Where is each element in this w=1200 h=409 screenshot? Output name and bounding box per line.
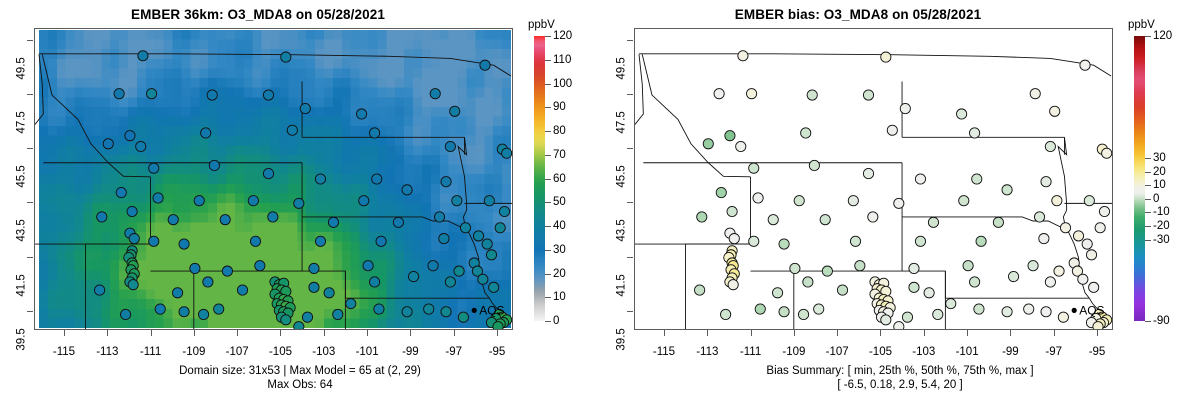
station-marker — [478, 274, 488, 284]
station-marker — [976, 236, 986, 246]
station-marker — [1045, 141, 1055, 151]
station-marker — [502, 148, 512, 158]
colorbar-tick-mark — [1145, 185, 1151, 186]
x-tick-label: -111 — [140, 346, 161, 358]
station-marker — [309, 263, 319, 273]
x-tick-mark — [497, 330, 498, 336]
station-marker — [855, 261, 865, 271]
station-marker — [881, 52, 891, 62]
station-marker — [798, 309, 808, 319]
colorbar-tick-label: -10 — [1153, 206, 1170, 218]
station-marker — [441, 307, 451, 317]
colorbar-tick-label: 0 — [553, 315, 559, 327]
station-marker — [127, 206, 137, 216]
station-marker — [136, 141, 146, 151]
station-marker — [1034, 212, 1044, 222]
station-marker — [779, 307, 789, 317]
station-marker — [146, 89, 156, 99]
station-marker — [428, 261, 438, 271]
station-marker — [736, 141, 746, 151]
x-tick-label: -95 — [1089, 346, 1106, 358]
x-tick-mark — [410, 330, 411, 336]
station-marker — [993, 217, 1003, 227]
station-marker — [190, 263, 200, 273]
right-caption-line2: [ -6.5, 0.18, 2.9, 5.4, 20 ] — [600, 378, 1200, 392]
station-marker — [959, 196, 969, 206]
aqs-legend-dot — [1072, 308, 1077, 313]
station-marker — [445, 141, 455, 151]
x-tick-mark — [237, 330, 238, 336]
station-marker — [772, 288, 782, 298]
colorbar-tick-label: -90 — [1153, 315, 1170, 327]
station-marker — [155, 304, 165, 314]
x-tick-mark — [794, 330, 795, 336]
station-marker — [1002, 307, 1012, 317]
station-marker — [493, 322, 503, 329]
colorbar-tick-label: 0 — [1153, 193, 1159, 205]
x-tick-label: -107 — [226, 346, 249, 358]
colorbar-tick-label: -20 — [1153, 220, 1170, 232]
station-marker — [1002, 185, 1012, 195]
station-marker — [863, 168, 873, 178]
state-boundary — [642, 54, 750, 176]
station-marker — [1058, 312, 1068, 322]
station-marker — [128, 280, 138, 290]
left-map-clip: AQS — [35, 29, 512, 329]
left-x-axis: -115-113-111-109-107-105-103-101-99-97-9… — [0, 336, 600, 356]
colorbar-tick-label: 100 — [553, 78, 572, 90]
station-marker — [714, 89, 724, 99]
station-marker — [328, 217, 338, 227]
colorbar-tick-label: 20 — [1153, 166, 1166, 178]
station-marker — [168, 215, 178, 225]
colorbar-tick-label: 120 — [553, 30, 572, 42]
station-marker — [408, 271, 418, 281]
station-marker — [450, 106, 460, 116]
colorbar-tick-mark — [545, 131, 551, 132]
station-marker — [725, 131, 735, 141]
station-marker — [946, 299, 956, 309]
station-marker — [376, 236, 386, 246]
station-marker — [370, 128, 380, 138]
station-marker — [333, 309, 343, 319]
y-tick-mark — [627, 94, 633, 95]
colorbar-tick-label: 70 — [553, 149, 566, 161]
left-caption-line1: Domain size: 31x53 | Max Model = 65 at (… — [0, 364, 600, 378]
station-marker — [807, 90, 817, 100]
station-marker — [149, 163, 159, 173]
y-tick-label: 49.5 — [615, 57, 627, 79]
station-marker — [801, 128, 811, 138]
station-marker — [1041, 307, 1051, 317]
colorbar-tick-label: 60 — [553, 173, 566, 185]
colorbar-tick-mark — [1145, 321, 1151, 322]
station-marker — [473, 231, 483, 241]
station-marker — [495, 223, 505, 233]
station-marker — [149, 236, 159, 246]
station-marker — [153, 193, 163, 203]
colorbar-tick-mark — [1145, 226, 1151, 227]
station-marker — [850, 236, 860, 246]
colorbar-tick-mark — [545, 274, 551, 275]
x-tick-mark — [707, 330, 708, 336]
colorbar-tick-label: 50 — [553, 196, 566, 208]
x-tick-mark — [924, 330, 925, 336]
right-x-axis: -115-113-111-109-107-105-103-101-99-97-9… — [600, 336, 1200, 356]
colorbar-tick-mark — [545, 155, 551, 156]
station-marker — [324, 288, 334, 298]
station-marker — [1041, 177, 1051, 187]
station-marker — [909, 282, 919, 292]
station-marker — [237, 285, 247, 295]
station-marker — [1060, 223, 1070, 233]
colorbar-tick-label: 90 — [553, 101, 566, 113]
station-marker — [727, 206, 737, 216]
x-tick-label: -109 — [182, 346, 205, 358]
x-tick-label: -103 — [912, 346, 935, 358]
station-marker — [755, 304, 765, 314]
x-tick-mark — [64, 330, 65, 336]
station-marker — [729, 234, 739, 244]
station-marker — [848, 196, 858, 206]
colorbar-tick-label: 40 — [553, 220, 566, 232]
colorbar-tick-label: -30 — [1153, 234, 1170, 246]
station-marker — [203, 277, 213, 287]
station-marker — [287, 125, 297, 135]
station-marker — [749, 163, 759, 173]
colorbar-tick-mark — [545, 60, 551, 61]
right-colorbar-title: ppbV — [1128, 19, 1155, 31]
state-boundary — [1058, 137, 1066, 203]
x-tick-mark — [324, 330, 325, 336]
station-marker — [1024, 304, 1034, 314]
station-marker — [924, 288, 934, 298]
x-tick-label: -105 — [869, 346, 892, 358]
station-marker — [1084, 196, 1094, 206]
station-marker — [294, 322, 304, 329]
aqs-legend-label: AQS — [479, 303, 504, 317]
colorbar-tick-label: 120 — [1153, 30, 1172, 42]
y-tick-mark — [627, 202, 633, 203]
colorbar-tick-mark — [1145, 240, 1151, 241]
station-marker — [957, 109, 967, 119]
station-marker — [402, 185, 412, 195]
station-marker — [972, 174, 982, 184]
y-tick-label: 41.5 — [615, 274, 627, 296]
x-tick-label: -113 — [96, 346, 118, 358]
station-marker — [1078, 274, 1088, 284]
colorbar-tick-mark — [1145, 212, 1151, 213]
station-marker — [179, 239, 189, 249]
station-marker — [194, 196, 204, 206]
station-marker — [482, 239, 492, 249]
colorbar-tick-label: 110 — [553, 54, 571, 66]
station-marker — [909, 263, 919, 273]
y-tick-label: 43.5 — [15, 220, 27, 242]
station-marker — [114, 89, 124, 99]
station-marker — [738, 51, 748, 61]
station-marker — [300, 103, 310, 113]
station-marker — [374, 304, 384, 314]
station-marker — [790, 263, 800, 273]
y-tick-label: 45.5 — [15, 165, 27, 187]
station-marker — [779, 239, 789, 249]
x-tick-label: -97 — [1045, 346, 1062, 358]
station-marker — [900, 103, 910, 113]
y-tick-mark — [27, 94, 33, 95]
state-boundary — [42, 54, 150, 176]
figure-root: EMBER 36km: O3_MDA8 on 05/28/2021 AQS 49… — [0, 0, 1200, 409]
x-tick-label: -97 — [445, 346, 462, 358]
station-marker — [268, 212, 278, 222]
right-map-overlay: AQS — [635, 29, 1112, 329]
station-marker — [1095, 223, 1105, 233]
station-marker — [255, 261, 265, 271]
station-marker — [138, 51, 148, 61]
station-marker — [1045, 277, 1055, 287]
station-marker — [125, 131, 135, 141]
station-marker — [281, 315, 291, 325]
station-marker — [721, 309, 731, 319]
station-marker — [915, 174, 925, 184]
station-marker — [1039, 234, 1049, 244]
station-marker — [357, 109, 367, 119]
station-marker — [894, 198, 904, 208]
colorbar-tick-label: 80 — [553, 125, 566, 137]
x-tick-label: -103 — [312, 346, 335, 358]
left-caption-line2: Max Obs: 64 — [0, 378, 600, 392]
y-tick-mark — [27, 257, 33, 258]
x-tick-mark — [194, 330, 195, 336]
x-tick-mark — [880, 330, 881, 336]
station-marker — [837, 285, 847, 295]
aqs-legend-label: AQS — [1079, 303, 1104, 317]
colorbar-tick-mark — [545, 202, 551, 203]
y-tick-label: 43.5 — [615, 220, 627, 242]
colorbar-tick-mark — [545, 250, 551, 251]
station-marker — [974, 304, 984, 314]
right-panel: EMBER bias: O3_MDA8 on 05/28/2021 AQS 49… — [600, 0, 1200, 409]
colorbar-tick-mark — [1145, 158, 1151, 159]
station-marker — [402, 307, 412, 317]
left-map-overlay: AQS — [35, 29, 512, 329]
x-tick-mark — [1097, 330, 1098, 336]
x-tick-mark — [454, 330, 455, 336]
state-boundary — [635, 54, 643, 138]
right-caption-line1: Bias Summary: [ min, 25th %, 50th %, 75t… — [600, 364, 1200, 378]
x-tick-mark — [107, 330, 108, 336]
station-marker — [370, 277, 380, 287]
x-tick-label: -113 — [696, 346, 718, 358]
y-tick-mark — [27, 148, 33, 149]
station-marker — [768, 215, 778, 225]
right-colorbar-gradient — [1134, 36, 1145, 321]
station-marker — [315, 174, 325, 184]
station-marker — [1086, 250, 1096, 260]
station-marker — [439, 234, 449, 244]
y-tick-label: 45.5 — [615, 165, 627, 187]
colorbar-tick-mark — [545, 107, 551, 108]
station-marker — [803, 277, 813, 287]
station-marker — [814, 304, 824, 314]
x-tick-mark — [1054, 330, 1055, 336]
y-tick-label: 41.5 — [15, 274, 27, 296]
colorbar-tick-mark — [1145, 172, 1151, 173]
y-tick-mark — [627, 311, 633, 312]
colorbar-tick-label: 10 — [553, 291, 566, 303]
x-tick-label: -107 — [826, 346, 849, 358]
station-marker — [863, 90, 873, 100]
station-marker — [363, 261, 373, 271]
station-marker — [1030, 89, 1040, 99]
x-tick-label: -101 — [956, 346, 979, 358]
colorbar-tick-mark — [545, 297, 551, 298]
station-marker — [749, 236, 759, 246]
station-marker — [1054, 266, 1064, 276]
state-boundary — [39, 54, 511, 76]
station-marker — [489, 282, 499, 292]
station-marker — [263, 90, 273, 100]
station-marker — [263, 168, 273, 178]
station-marker — [97, 212, 107, 222]
station-marker — [172, 288, 182, 298]
x-tick-label: -105 — [269, 346, 292, 358]
station-marker — [484, 196, 494, 206]
colorbar-tick-label: 30 — [1153, 152, 1166, 164]
station-marker — [746, 89, 756, 99]
right-map-plot: AQS — [634, 28, 1113, 330]
station-marker — [1102, 148, 1112, 158]
y-tick-mark — [27, 40, 33, 41]
station-marker — [1080, 60, 1090, 70]
aqs-legend-dot — [472, 308, 477, 313]
station-marker — [121, 309, 131, 319]
y-tick-mark — [627, 148, 633, 149]
station-marker — [359, 196, 369, 206]
station-marker — [441, 177, 451, 187]
station-marker — [281, 52, 291, 62]
station-marker — [933, 309, 943, 319]
x-tick-mark — [837, 330, 838, 336]
state-boundary — [458, 137, 466, 203]
y-tick-label: 47.5 — [15, 111, 27, 133]
colorbar-tick-mark — [545, 321, 551, 322]
station-marker — [95, 285, 105, 295]
station-marker — [430, 89, 440, 99]
left-panel: EMBER 36km: O3_MDA8 on 05/28/2021 AQS 49… — [0, 0, 600, 409]
colorbar-tick-mark — [545, 36, 551, 37]
right-panel-title: EMBER bias: O3_MDA8 on 05/28/2021 — [600, 7, 1116, 22]
station-marker — [302, 312, 312, 322]
station-marker — [1052, 196, 1062, 206]
y-tick-mark — [27, 311, 33, 312]
station-marker — [116, 187, 126, 197]
station-marker — [928, 217, 938, 227]
station-marker — [1089, 282, 1099, 292]
station-marker — [486, 250, 496, 260]
y-tick-mark — [627, 257, 633, 258]
station-marker — [179, 307, 189, 317]
station-marker — [434, 212, 444, 222]
station-marker — [695, 285, 705, 295]
colorbar-tick-mark — [1145, 36, 1151, 37]
station-marker — [703, 139, 713, 149]
left-colorbar-title: ppbV — [528, 19, 555, 31]
x-tick-label: -111 — [740, 346, 761, 358]
left-colorbar-gradient — [534, 36, 545, 321]
station-marker — [346, 299, 356, 309]
station-marker — [454, 266, 464, 276]
station-marker — [207, 90, 217, 100]
y-tick-label: 49.5 — [15, 57, 27, 79]
station-marker — [309, 282, 319, 292]
colorbar-tick-label: 20 — [553, 268, 566, 280]
station-marker — [728, 280, 738, 290]
station-marker — [198, 309, 208, 319]
station-marker — [809, 160, 819, 170]
station-marker — [716, 187, 726, 197]
colorbar-tick-label: 30 — [553, 244, 566, 256]
x-tick-mark — [367, 330, 368, 336]
colorbar-tick-mark — [1145, 199, 1151, 200]
station-marker — [915, 236, 925, 246]
station-marker — [214, 304, 224, 314]
station-marker — [445, 277, 455, 287]
colorbar-tick-mark — [545, 226, 551, 227]
station-marker — [480, 60, 490, 70]
x-tick-label: -101 — [356, 346, 379, 358]
station-marker — [315, 236, 325, 246]
x-tick-label: -95 — [489, 346, 506, 358]
station-marker — [452, 196, 462, 206]
x-tick-mark — [751, 330, 752, 336]
station-marker — [1082, 239, 1092, 249]
station-marker — [1028, 261, 1038, 271]
station-marker — [250, 236, 260, 246]
station-marker — [1099, 206, 1109, 216]
station-marker — [1050, 106, 1060, 116]
x-tick-label: -99 — [402, 346, 419, 358]
station-marker — [222, 266, 232, 276]
station-marker — [458, 312, 468, 322]
station-marker — [209, 160, 219, 170]
station-marker — [697, 212, 707, 222]
station-marker — [902, 312, 912, 322]
y-tick-label: 47.5 — [615, 111, 627, 133]
station-marker — [881, 315, 891, 325]
x-tick-label: -109 — [782, 346, 805, 358]
x-tick-label: -115 — [53, 346, 75, 358]
station-marker — [499, 206, 509, 216]
x-tick-label: -115 — [653, 346, 675, 358]
station-marker — [103, 139, 113, 149]
state-boundary — [35, 54, 43, 138]
state-boundary — [639, 54, 1111, 76]
colorbar-tick-mark — [545, 84, 551, 85]
x-tick-mark — [1010, 330, 1011, 336]
station-marker — [753, 193, 763, 203]
left-map-plot: AQS — [34, 28, 513, 330]
station-marker — [1073, 231, 1083, 241]
station-marker — [294, 198, 304, 208]
colorbar-tick-mark — [545, 179, 551, 180]
station-marker — [393, 217, 403, 227]
station-marker — [822, 266, 832, 276]
station-marker — [970, 128, 980, 138]
station-marker — [1008, 271, 1018, 281]
x-tick-mark — [151, 330, 152, 336]
left-panel-title: EMBER 36km: O3_MDA8 on 05/28/2021 — [0, 7, 516, 22]
